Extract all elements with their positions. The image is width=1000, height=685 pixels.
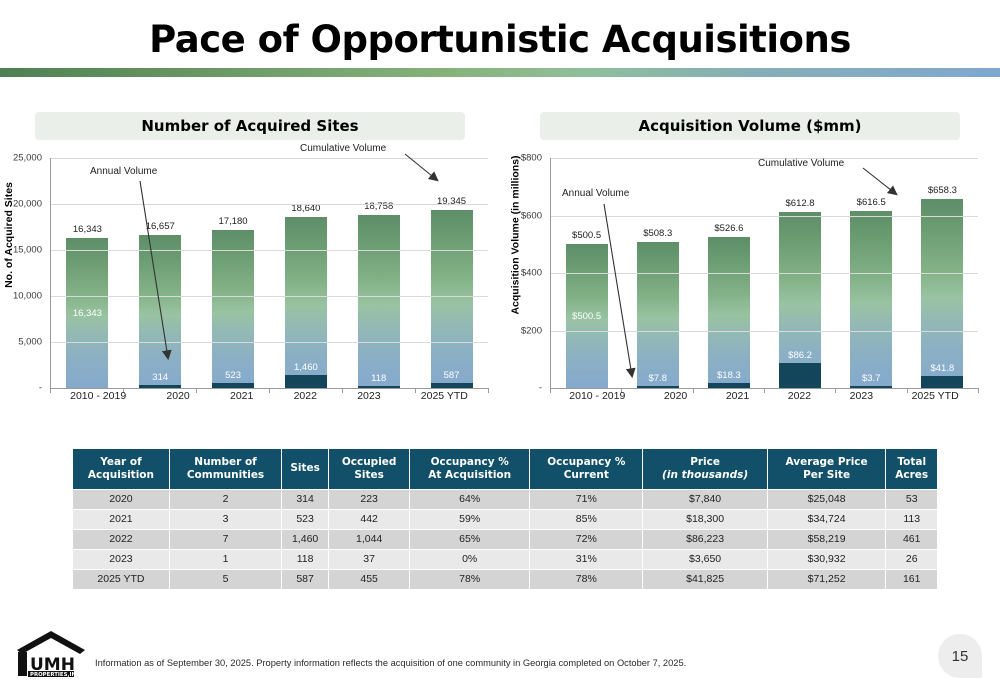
x-tick-label: 2022 — [294, 390, 317, 402]
bar-cumulative[interactable]: $500.5$500.5 — [566, 244, 608, 388]
y-tick-label: $200 — [521, 325, 542, 336]
x-axis-tick — [488, 388, 489, 393]
y-axis-labels-acquired-sites: -5,00010,00015,00020,00025,000 — [0, 158, 46, 388]
column-header-line2: Per Site — [770, 469, 884, 482]
bar-slot[interactable]: 16,34316,343 — [66, 158, 108, 388]
table-cell: 223 — [329, 490, 409, 509]
x-axis-tick — [978, 388, 979, 393]
bar-value-label-cumulative: 16,657 — [146, 221, 175, 232]
column-header-line2: Current — [532, 469, 640, 482]
y-tick-label: 20,000 — [13, 199, 42, 210]
table-cell: $71,252 — [768, 570, 886, 589]
table-cell: 455 — [329, 570, 409, 589]
bar-value-label-cumulative: $508.3 — [643, 228, 672, 239]
svg-text:PROPERTIES,INC: PROPERTIES,INC — [30, 672, 80, 678]
bar-cumulative[interactable]: $616.5$3.7 — [850, 211, 892, 388]
table-column-header[interactable]: TotalAcres — [886, 449, 937, 489]
bar-cumulative[interactable]: 16,657314 — [139, 235, 181, 388]
table-cell: 118 — [282, 550, 328, 569]
grid-line — [51, 296, 488, 297]
grid-line — [51, 250, 488, 251]
bar-value-label-cumulative: $500.5 — [572, 230, 601, 241]
bar-value-label-annual: 314 — [152, 372, 168, 383]
bar-group-acquired-sites: 16,34316,34316,65731417,18052318,6401,46… — [51, 158, 488, 388]
annotation-cumulative-volume-right: Cumulative Volume — [758, 158, 844, 169]
table-body: 2020231422364%71%$7,840$25,0485320213523… — [73, 490, 937, 589]
table-column-header[interactable]: Number ofCommunities — [170, 449, 281, 489]
bar-cumulative[interactable]: $658.3$41.8 — [921, 199, 963, 388]
table-cell: 2025 YTD — [73, 570, 169, 589]
table-cell: 65% — [410, 530, 529, 549]
table-cell: 442 — [329, 510, 409, 529]
bar-value-label-annual: $86.2 — [788, 350, 812, 361]
table-cell: 2020 — [73, 490, 169, 509]
table-cell: 2021 — [73, 510, 169, 529]
grid-line — [51, 342, 488, 343]
table-cell: $3,650 — [643, 550, 766, 569]
bar-value-label-annual: $18.3 — [717, 370, 741, 381]
table-row[interactable]: 2025 YTD558745578%78%$41,825$71,252161 — [73, 570, 937, 589]
table-cell: 72% — [530, 530, 642, 549]
bar-cumulative[interactable]: 18,6401,460 — [285, 217, 327, 388]
y-tick-label: 15,000 — [13, 245, 42, 256]
table-column-header[interactable]: Price(in thousands) — [643, 449, 766, 489]
column-header-line2: Acquisition — [75, 469, 167, 482]
table-cell: 1 — [170, 550, 281, 569]
bar-value-label-cumulative: 19,345 — [437, 196, 466, 207]
bar-value-label-annual: $41.8 — [930, 363, 954, 374]
bar-cumulative[interactable]: 17,180523 — [212, 230, 254, 388]
column-header-line1: Occupancy % — [532, 456, 640, 469]
table-cell: 31% — [530, 550, 642, 569]
bar-value-label-cumulative: $616.5 — [857, 197, 886, 208]
table-cell: $18,300 — [643, 510, 766, 529]
page-title: Pace of Opportunistic Acquisitions — [0, 18, 1000, 61]
chart-title-acquired-sites: Number of Acquired Sites — [35, 112, 465, 140]
column-header-line1: Occupied — [331, 456, 407, 469]
table-cell: 64% — [410, 490, 529, 509]
table-cell: 314 — [282, 490, 328, 509]
x-tick-label: 2010 - 2019 — [569, 390, 625, 402]
column-header-line2: Communities — [172, 469, 279, 482]
bar-cumulative[interactable]: 19,345587 — [431, 210, 473, 388]
acquisitions-table: Year ofAcquisitionNumber ofCommunitiesSi… — [72, 448, 938, 590]
column-header-line1: Price — [645, 456, 764, 469]
table-cell: $34,724 — [768, 510, 886, 529]
bar-value-label-annual: 16,343 — [73, 308, 102, 319]
y-tick-label: 25,000 — [13, 153, 42, 164]
bar-annual-segment[interactable] — [921, 376, 963, 388]
table-cell: 26 — [886, 550, 937, 569]
x-tick-label: 2020 — [166, 390, 189, 402]
chart-panel-acquisition-volume: Acquisition Volume ($mm) Acquisition Vol… — [500, 100, 1000, 428]
table-cell: 59% — [410, 510, 529, 529]
table-cell: $41,825 — [643, 570, 766, 589]
table-cell: 2022 — [73, 530, 169, 549]
bar-cumulative[interactable]: $526.6$18.3 — [708, 237, 750, 388]
column-header-line1: Year of — [75, 456, 167, 469]
bar-value-label-annual: 118 — [371, 373, 386, 384]
plot-canvas-acquired-sites: 16,34316,34316,65731417,18052318,6401,46… — [50, 158, 488, 388]
y-tick-label: - — [39, 383, 42, 394]
column-header-line2: Sites — [331, 469, 407, 482]
x-tick-label: 2023 — [850, 390, 873, 402]
plot-area-acquisition-volume: -$200$400$600$800 $500.5$500.5$508.3$7.8… — [500, 158, 1000, 428]
x-tick-label: 2022 — [788, 390, 811, 402]
table-cell: $25,048 — [768, 490, 886, 509]
y-tick-label: $400 — [521, 268, 542, 279]
grid-line — [51, 158, 488, 159]
column-header-line2: At Acquisition — [412, 469, 527, 482]
table-cell: 78% — [410, 570, 529, 589]
bar-cumulative[interactable]: 16,34316,343 — [66, 238, 108, 388]
y-tick-label: 10,000 — [13, 291, 42, 302]
table-cell: 37 — [329, 550, 409, 569]
column-header-line1: Average Price — [770, 456, 884, 469]
table-column-header[interactable]: Occupancy %Current — [530, 449, 642, 489]
bar-value-label-cumulative: 16,343 — [73, 224, 102, 235]
table-cell: 85% — [530, 510, 642, 529]
table-row[interactable]: 2021352344259%85%$18,300$34,724113 — [73, 510, 937, 529]
table-column-header[interactable]: Occupancy %At Acquisition — [410, 449, 529, 489]
x-tick-label: 2023 — [357, 390, 380, 402]
x-tick-label: 2020 — [664, 390, 687, 402]
grid-line — [551, 331, 978, 332]
table-cell: 5 — [170, 570, 281, 589]
chart-title-acquisition-volume: Acquisition Volume ($mm) — [540, 112, 960, 140]
table-column-header[interactable]: OccupiedSites — [329, 449, 409, 489]
annotation-annual-volume-right: Annual Volume — [562, 188, 629, 199]
bar-value-label-cumulative: $658.3 — [928, 185, 957, 196]
x-tick-label: 2025 YTD — [421, 390, 468, 402]
table-column-header[interactable]: Average PricePer Site — [768, 449, 886, 489]
title-gradient-rule — [0, 68, 1000, 77]
table-cell: 113 — [886, 510, 937, 529]
column-header-line2: (in thousands) — [645, 469, 764, 482]
x-tick-label: 2021 — [230, 390, 253, 402]
bar-slot[interactable]: 16,657314 — [139, 158, 181, 388]
table-cell: $30,932 — [768, 550, 886, 569]
column-header-line1: Number of — [172, 456, 279, 469]
bar-slot[interactable]: 19,345587 — [431, 158, 473, 388]
column-header-line1: Sites — [284, 462, 326, 475]
table-cell: $7,840 — [643, 490, 766, 509]
table-cell: $86,223 — [643, 530, 766, 549]
table-cell: 2023 — [73, 550, 169, 569]
table-cell: 2 — [170, 490, 281, 509]
x-axis-labels-acquisition-volume: 2010 - 201920202021202220232025 YTD — [550, 390, 978, 402]
table-row[interactable]: 20231118370%31%$3,650$30,93226 — [73, 550, 937, 569]
table-cell: 71% — [530, 490, 642, 509]
table-row[interactable]: 202271,4601,04465%72%$86,223$58,219461 — [73, 530, 937, 549]
annotation-cumulative-volume-left: Cumulative Volume — [300, 143, 386, 154]
table-column-header[interactable]: Sites — [282, 449, 328, 489]
annotation-annual-volume-left: Annual Volume — [90, 166, 157, 177]
x-tick-label: 2021 — [726, 390, 749, 402]
grid-line — [551, 273, 978, 274]
table-row[interactable]: 2020231422364%71%$7,840$25,04853 — [73, 490, 937, 509]
table-cell: $58,219 — [768, 530, 886, 549]
table-cell: 3 — [170, 510, 281, 529]
bar-annual-segment[interactable] — [779, 363, 821, 388]
table-cell: 1,460 — [282, 530, 328, 549]
plot-area-acquired-sites: -5,00010,00015,00020,00025,000 16,34316,… — [0, 158, 500, 428]
umh-properties-logo: UMH PROPERTIES,INC — [14, 628, 88, 678]
y-tick-label: - — [539, 383, 542, 394]
footer-note: Information as of September 30, 2025. Pr… — [95, 658, 686, 668]
bar-cumulative[interactable]: $612.8$86.2 — [779, 212, 821, 388]
bar-cumulative[interactable]: 18,758118 — [358, 215, 400, 388]
y-axis-labels-acquisition-volume: -$200$400$600$800 — [500, 158, 546, 388]
table-cell: 161 — [886, 570, 937, 589]
table-cell: 461 — [886, 530, 937, 549]
page-number: 15 — [938, 634, 982, 678]
bar-value-label-annual: 1,460 — [294, 362, 318, 373]
bar-value-label-annual: $500.5 — [572, 311, 601, 322]
column-header-line1: Occupancy % — [412, 456, 527, 469]
y-tick-label: 5,000 — [18, 337, 42, 348]
table-cell: 0% — [410, 550, 529, 569]
chart-panel-acquired-sites: Number of Acquired Sites No. of Acquired… — [0, 100, 500, 428]
grid-line — [51, 204, 488, 205]
bar-value-label-annual: $7.8 — [648, 373, 667, 384]
table-cell: 53 — [886, 490, 937, 509]
x-tick-label: 2010 - 2019 — [70, 390, 126, 402]
bar-slot[interactable]: 18,6401,460 — [285, 158, 327, 388]
bar-slot[interactable]: 17,180523 — [212, 158, 254, 388]
bar-value-label-cumulative: 17,180 — [219, 216, 248, 227]
grid-line — [551, 216, 978, 217]
bar-value-label-annual: 523 — [225, 370, 241, 381]
y-tick-label: $600 — [521, 210, 542, 221]
x-axis-labels-acquired-sites: 2010 - 201920202021202220232025 YTD — [50, 390, 488, 402]
table-cell: 78% — [530, 570, 642, 589]
bar-value-label-cumulative: $526.6 — [714, 223, 743, 234]
column-header-line1: Total — [888, 456, 935, 469]
bar-cumulative[interactable]: $508.3$7.8 — [637, 242, 679, 388]
table-cell: 523 — [282, 510, 328, 529]
table-cell: 1,044 — [329, 530, 409, 549]
bar-slot[interactable]: 18,758118 — [358, 158, 400, 388]
column-header-line2: Acres — [888, 469, 935, 482]
x-tick-label: 2025 YTD — [912, 390, 959, 402]
table-cell: 7 — [170, 530, 281, 549]
bar-value-label-annual: 587 — [444, 370, 460, 381]
bar-value-label-annual: $3.7 — [862, 373, 881, 384]
y-tick-label: $800 — [521, 153, 542, 164]
bar-value-label-cumulative: $612.8 — [786, 198, 815, 209]
table-header-row: Year ofAcquisitionNumber ofCommunitiesSi… — [73, 449, 937, 489]
table-cell: 587 — [282, 570, 328, 589]
bar-annual-segment[interactable] — [285, 375, 327, 388]
table-column-header[interactable]: Year ofAcquisition — [73, 449, 169, 489]
